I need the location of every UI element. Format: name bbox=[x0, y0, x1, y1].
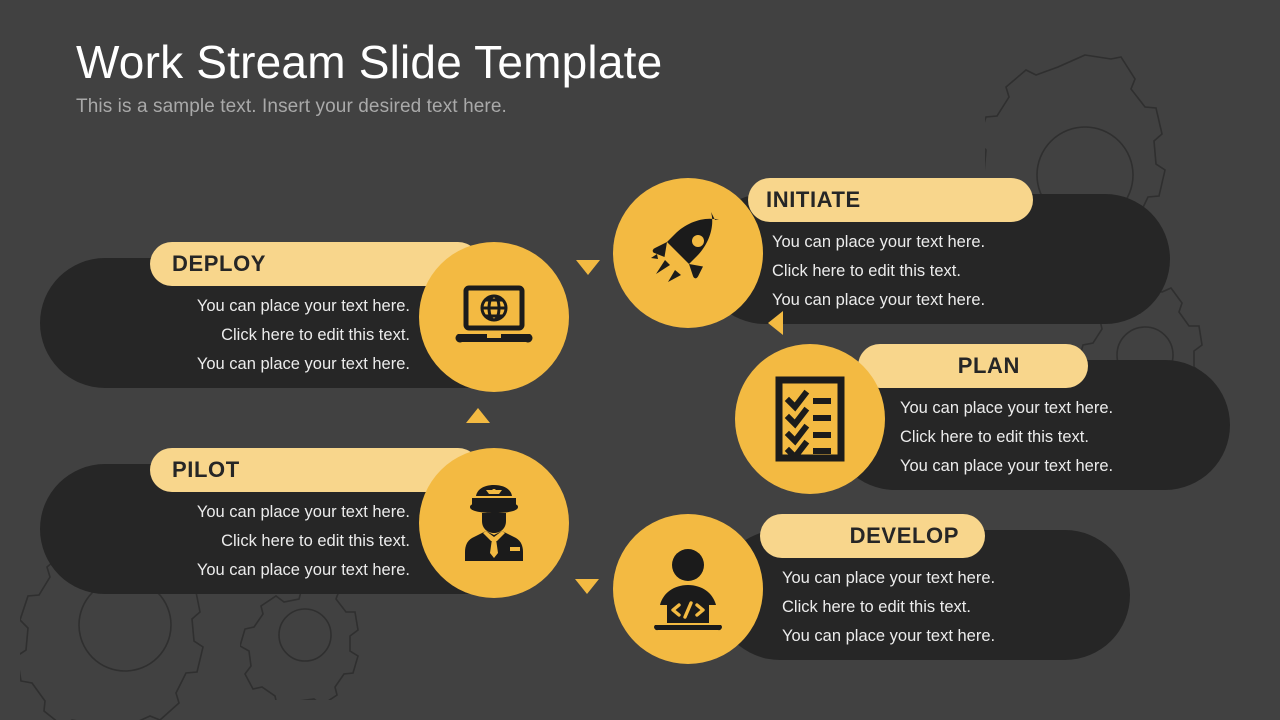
connector-triangle-down-icon bbox=[575, 579, 599, 594]
step-icon-circle-plan[interactable] bbox=[735, 344, 885, 494]
connector-triangle-up-icon bbox=[466, 408, 490, 423]
developer-code-icon bbox=[645, 547, 731, 631]
step-text-line: Click here to edit this text. bbox=[60, 527, 410, 556]
step-text-lines: You can place your text here. Click here… bbox=[782, 564, 995, 651]
step-text-line: You can place your text here. bbox=[60, 498, 410, 527]
step-label: PILOT bbox=[172, 457, 240, 483]
step-icon-circle-initiate[interactable] bbox=[613, 178, 763, 328]
step-icon-circle-develop[interactable] bbox=[613, 514, 763, 664]
rocket-icon bbox=[645, 210, 731, 296]
step-text-line: You can place your text here. bbox=[60, 556, 410, 585]
pilot-captain-icon bbox=[452, 481, 536, 565]
step-text-line: You can place your text here. bbox=[772, 228, 985, 257]
step-header-bar-plan[interactable]: PLAN bbox=[858, 344, 1088, 388]
step-label: DEVELOP bbox=[850, 523, 959, 549]
step-text-line: You can place your text here. bbox=[772, 286, 985, 315]
step-text-line: You can place your text here. bbox=[900, 452, 1113, 481]
step-icon-circle-deploy[interactable] bbox=[419, 242, 569, 392]
step-label: DEPLOY bbox=[172, 251, 266, 277]
checklist-clipboard-icon bbox=[773, 376, 847, 462]
step-text-lines: You can place your text here. Click here… bbox=[60, 498, 410, 585]
step-text-lines: You can place your text here. Click here… bbox=[900, 394, 1113, 481]
step-text-line: You can place your text here. bbox=[782, 622, 995, 651]
connector-triangle-left-icon bbox=[768, 311, 783, 335]
step-text-line: Click here to edit this text. bbox=[60, 321, 410, 350]
connector-triangle-down-icon bbox=[576, 260, 600, 275]
slide-canvas: Work Stream Slide Template This is a sam… bbox=[0, 0, 1280, 720]
step-header-bar-develop[interactable]: DEVELOP bbox=[760, 514, 985, 558]
step-text-line: You can place your text here. bbox=[60, 292, 410, 321]
page-subtitle: This is a sample text. Insert your desir… bbox=[76, 96, 662, 118]
step-icon-circle-pilot[interactable] bbox=[419, 448, 569, 598]
step-text-lines: You can place your text here. Click here… bbox=[772, 228, 985, 315]
laptop-globe-icon bbox=[452, 282, 536, 352]
step-text-line: You can place your text here. bbox=[782, 564, 995, 593]
step-text-lines: You can place your text here. Click here… bbox=[60, 292, 410, 379]
step-text-line: You can place your text here. bbox=[900, 394, 1113, 423]
step-header-bar-initiate[interactable]: INITIATE bbox=[748, 178, 1033, 222]
step-text-line: Click here to edit this text. bbox=[900, 423, 1113, 452]
step-text-line: You can place your text here. bbox=[60, 350, 410, 379]
page-title: Work Stream Slide Template bbox=[76, 38, 662, 86]
step-text-line: Click here to edit this text. bbox=[782, 593, 995, 622]
step-label: PLAN bbox=[958, 353, 1020, 379]
step-text-line: Click here to edit this text. bbox=[772, 257, 985, 286]
step-label: INITIATE bbox=[766, 187, 861, 213]
slide-header: Work Stream Slide Template This is a sam… bbox=[76, 38, 662, 118]
